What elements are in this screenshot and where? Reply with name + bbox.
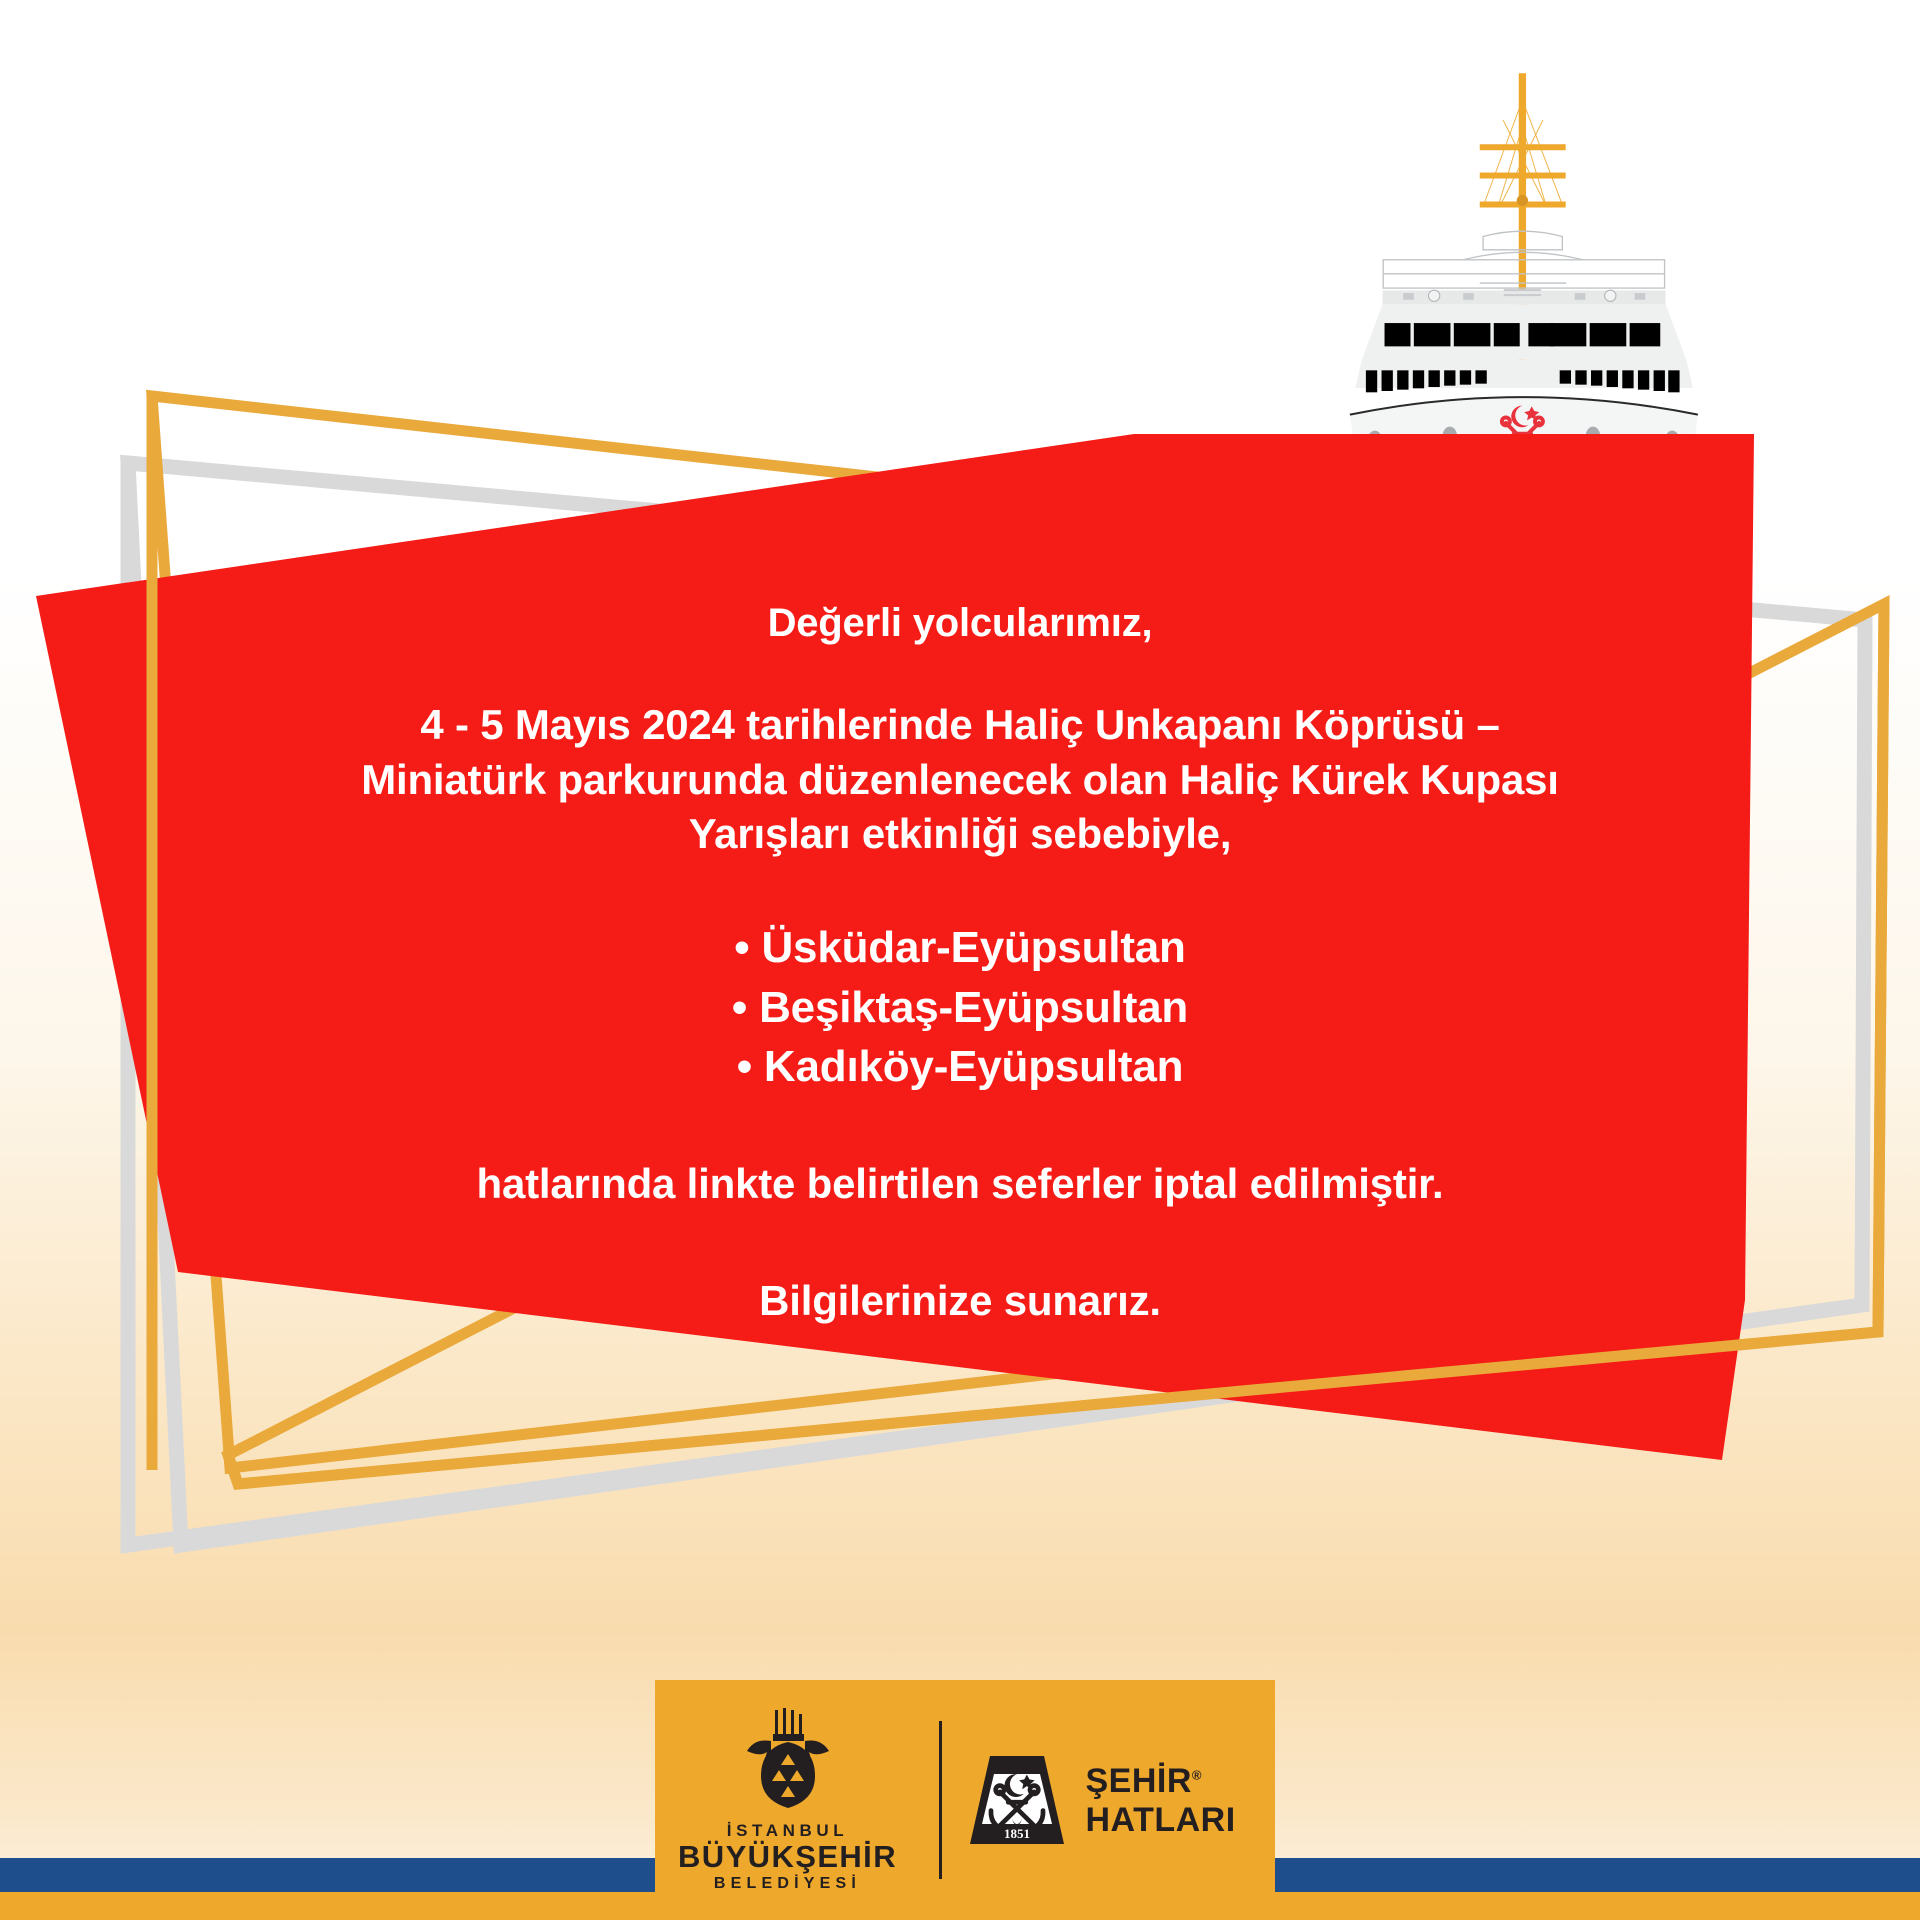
bullet-icon: • [734, 918, 749, 978]
greeting-line: Değerli yolcularımız, [0, 600, 1920, 646]
bullet-icon: • [737, 1037, 752, 1097]
list-item: •Üsküdar-Eyüpsultan [0, 918, 1920, 978]
route-label: Beşiktaş-Eyüpsultan [759, 983, 1188, 1032]
announcement-text: Değerli yolcularımız, 4 - 5 Mayıs 2024 t… [0, 600, 1920, 1328]
route-label: Kadıköy-Eyüpsultan [764, 1042, 1183, 1091]
route-label: Üsküdar-Eyüpsultan [761, 923, 1185, 972]
list-item: •Beşiktaş-Eyüpsultan [0, 978, 1920, 1038]
signoff-line: Bilgilerinize sunarız. [0, 1274, 1920, 1329]
closing-line: hatlarında linkte belirtilen seferler ip… [0, 1157, 1920, 1212]
announcement-paragraph: 4 - 5 Mayıs 2024 tarihlerinde Haliç Unka… [230, 698, 1690, 862]
poster-canvas: Değerli yolcularımız, 4 - 5 Mayıs 2024 t… [0, 0, 1920, 1920]
paragraph-line-2: Miniatürk parkurunda düzenlenecek olan H… [230, 753, 1690, 808]
paragraph-line-3: Yarışları etkinliği sebebiyle, [230, 807, 1690, 862]
bullet-icon: • [732, 978, 747, 1038]
cancelled-routes-list: •Üsküdar-Eyüpsultan •Beşiktaş-Eyüpsultan… [0, 918, 1920, 1097]
list-item: •Kadıköy-Eyüpsultan [0, 1037, 1920, 1097]
paragraph-line-1: 4 - 5 Mayıs 2024 tarihlerinde Haliç Unka… [230, 698, 1690, 753]
